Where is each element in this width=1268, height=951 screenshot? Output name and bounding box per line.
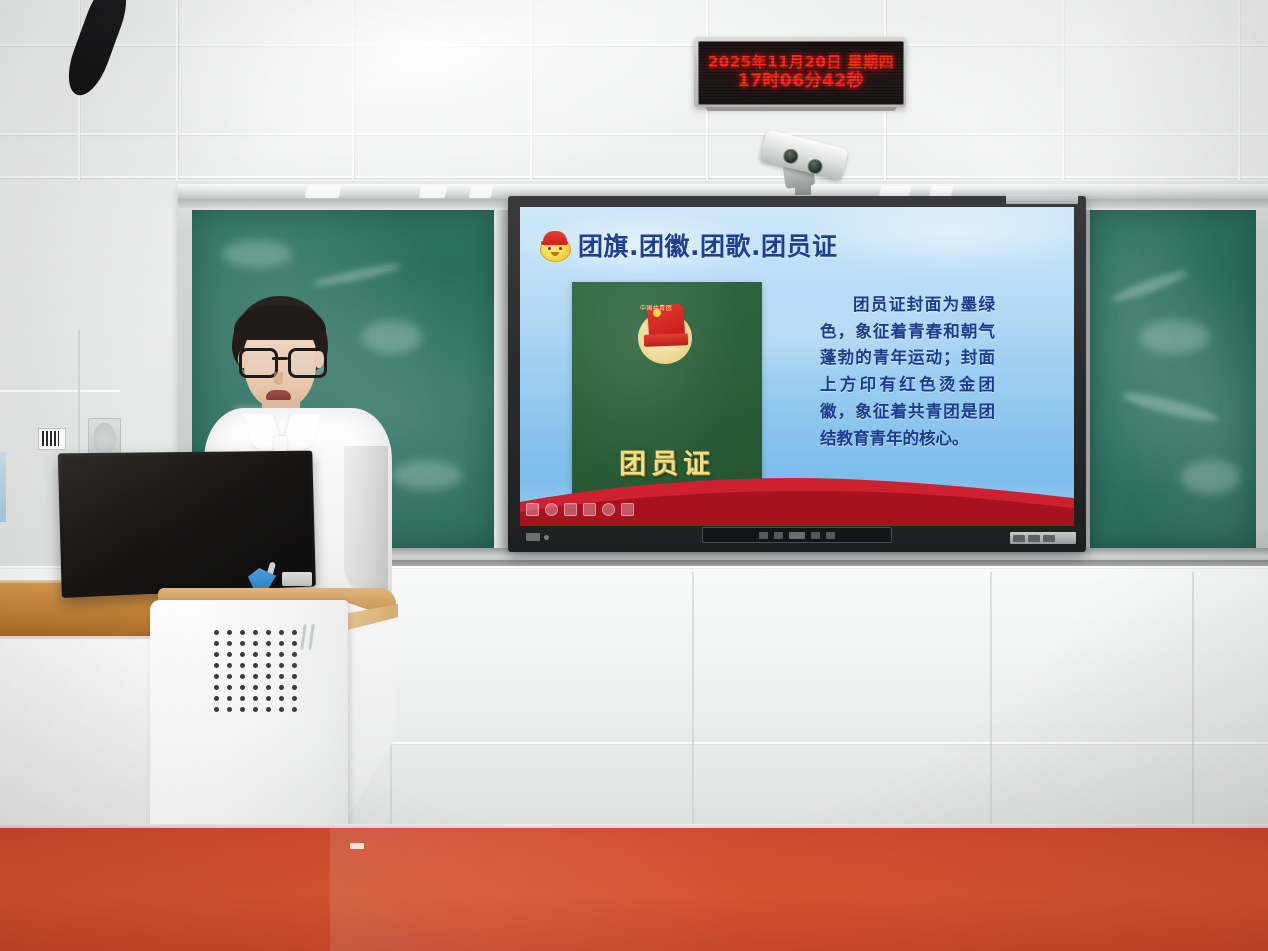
grille-hole bbox=[266, 630, 271, 635]
led-clock-screen: 2025年11月20日 星期四 17时06分42秒 bbox=[698, 41, 904, 105]
pointer-icon[interactable] bbox=[545, 503, 558, 516]
highlighter-icon[interactable] bbox=[583, 503, 596, 516]
grille-hole bbox=[253, 707, 258, 712]
podium-speaker-grille bbox=[214, 630, 302, 712]
usb-port[interactable] bbox=[1013, 535, 1025, 542]
grille-hole bbox=[279, 674, 284, 679]
grille-hole bbox=[227, 696, 232, 701]
grille-hole bbox=[292, 685, 297, 690]
grille-hole bbox=[279, 641, 284, 646]
wall-grout-line bbox=[0, 133, 1268, 135]
podium-vent-slot bbox=[308, 624, 315, 650]
grille-hole bbox=[227, 663, 232, 668]
blackboard-right-panel bbox=[1090, 210, 1256, 548]
grille-hole bbox=[240, 696, 245, 701]
grille-hole bbox=[240, 685, 245, 690]
presenter-nose bbox=[274, 372, 283, 385]
blackboard-panel-edge bbox=[494, 210, 508, 548]
slide-title: 团旗.团徽.团歌.团员证 bbox=[578, 227, 838, 263]
grille-hole bbox=[227, 707, 232, 712]
grille-hole bbox=[227, 630, 232, 635]
brand-logo bbox=[526, 533, 540, 541]
whiteboard-port-panel[interactable] bbox=[1010, 532, 1076, 544]
hdmi-port[interactable] bbox=[1028, 535, 1040, 542]
grille-hole bbox=[279, 652, 284, 657]
grille-hole bbox=[253, 696, 258, 701]
grille-hole bbox=[214, 696, 219, 701]
wall-grout-line bbox=[0, 44, 1268, 46]
grille-hole bbox=[214, 685, 219, 690]
grille-hole bbox=[240, 641, 245, 646]
grille-hole bbox=[227, 685, 232, 690]
whiteboard-screen[interactable]: 团旗.团徽.团歌.团员证 中国共青团 团员证 团员证封面为墨绿色，象征着青春和朝… bbox=[520, 207, 1074, 526]
volume-up-button[interactable] bbox=[826, 532, 835, 539]
qr-code-label bbox=[38, 428, 66, 450]
pen-icon[interactable] bbox=[564, 503, 577, 516]
grille-hole bbox=[240, 707, 245, 712]
emblem-banner-text: 中国共青团 bbox=[634, 303, 678, 312]
tape-mark bbox=[305, 186, 342, 198]
grille-hole bbox=[227, 652, 232, 657]
hdmi-port[interactable] bbox=[1043, 535, 1055, 542]
source-button[interactable] bbox=[789, 532, 805, 539]
eraser-icon[interactable] bbox=[602, 503, 615, 516]
grille-hole bbox=[240, 674, 245, 679]
slide-wave-decoration bbox=[520, 468, 1074, 526]
wall-grout-line bbox=[352, 0, 354, 180]
grille-hole bbox=[240, 652, 245, 657]
grille-hole bbox=[292, 707, 297, 712]
grille-hole bbox=[253, 641, 258, 646]
grille-hole bbox=[214, 674, 219, 679]
grille-hole bbox=[279, 685, 284, 690]
podium-side-panel bbox=[346, 602, 396, 820]
grille-hole bbox=[240, 663, 245, 668]
slide-body-text: 团员证封面为墨绿色，象征着青春和朝气蓬勃的青年运动；封面上方印有红色烫金团徽，象… bbox=[820, 292, 995, 452]
grille-hole bbox=[279, 707, 284, 712]
youth-league-emblem-icon: 中国共青团 bbox=[634, 302, 696, 368]
wall-grout-line bbox=[176, 0, 178, 180]
grille-hole bbox=[214, 641, 219, 646]
led-clock-time: 17时06分42秒 bbox=[738, 72, 864, 92]
wainscot-seam bbox=[990, 572, 992, 828]
wainscot-seam bbox=[1192, 572, 1194, 828]
grille-hole bbox=[266, 696, 271, 701]
screenshot-icon[interactable] bbox=[526, 503, 539, 516]
wainscot-seam bbox=[692, 572, 694, 828]
grille-hole bbox=[266, 707, 271, 712]
led-clock-display: 2025年11月20日 星期四 17时06分42秒 bbox=[694, 37, 906, 107]
grille-hole bbox=[253, 630, 258, 635]
pen-tray bbox=[282, 572, 312, 586]
power-button[interactable] bbox=[759, 532, 768, 539]
wall-panel-seam bbox=[0, 390, 120, 392]
grille-hole bbox=[214, 652, 219, 657]
volume-down-button[interactable] bbox=[811, 532, 820, 539]
desktop-monitor[interactable] bbox=[58, 451, 316, 598]
tape-mark bbox=[469, 186, 494, 198]
power-indicator-icon bbox=[544, 535, 549, 540]
grille-hole bbox=[253, 674, 258, 679]
whiteboard-bottom-bezel bbox=[508, 528, 1086, 548]
wall-grout-line bbox=[530, 0, 532, 180]
interactive-whiteboard[interactable]: 团旗.团徽.团歌.团员证 中国共青团 团员证 团员证封面为墨绿色，象征着青春和朝… bbox=[508, 196, 1086, 552]
grille-hole bbox=[292, 696, 297, 701]
youth-league-mascot-icon bbox=[540, 231, 569, 260]
grille-hole bbox=[292, 663, 297, 668]
grille-hole bbox=[266, 685, 271, 690]
wall-grout-line bbox=[1062, 0, 1064, 180]
grille-hole bbox=[214, 707, 219, 712]
camera-lens-icon bbox=[782, 147, 800, 165]
grille-hole bbox=[279, 630, 284, 635]
grille-hole bbox=[292, 674, 297, 679]
presenter-hair-fringe bbox=[234, 306, 326, 340]
grille-hole bbox=[227, 674, 232, 679]
grille-hole bbox=[227, 641, 232, 646]
grille-hole bbox=[292, 641, 297, 646]
grille-hole bbox=[266, 663, 271, 668]
grille-hole bbox=[266, 641, 271, 646]
grille-hole bbox=[214, 630, 219, 635]
grille-hole bbox=[266, 652, 271, 657]
menu-button[interactable] bbox=[774, 532, 783, 539]
grille-hole bbox=[214, 663, 219, 668]
camera-lens-icon bbox=[806, 157, 824, 175]
led-clock-date: 2025年11月20日 星期四 bbox=[708, 55, 894, 71]
wall-grout-line bbox=[0, 176, 1268, 178]
monitor-screen[interactable] bbox=[61, 454, 313, 595]
tape-mark bbox=[419, 186, 448, 198]
whiteboard-keypad[interactable] bbox=[702, 527, 892, 543]
grille-hole bbox=[266, 674, 271, 679]
slide-title-row: 团旗.团徽.团歌.团员证 bbox=[540, 227, 838, 263]
grille-hole bbox=[240, 630, 245, 635]
wall-grout-line bbox=[1238, 0, 1240, 180]
grille-hole bbox=[253, 685, 258, 690]
floor-reflection bbox=[330, 828, 1030, 951]
grille-hole bbox=[279, 696, 284, 701]
shirt-sleeve-shading bbox=[344, 446, 388, 596]
classroom-scene: 2025年11月20日 星期四 17时06分42秒 bbox=[0, 0, 1268, 951]
ppt-annotation-toolbar[interactable] bbox=[526, 503, 634, 516]
floor-marking bbox=[350, 843, 364, 849]
grille-hole bbox=[279, 663, 284, 668]
grille-hole bbox=[292, 630, 297, 635]
grille-hole bbox=[253, 663, 258, 668]
undo-icon[interactable] bbox=[621, 503, 634, 516]
door-glass-sliver bbox=[0, 452, 6, 522]
glasses-icon bbox=[238, 348, 322, 372]
grille-hole bbox=[292, 652, 297, 657]
grille-hole bbox=[253, 652, 258, 657]
whiteboard-side-ports[interactable] bbox=[1006, 194, 1078, 204]
